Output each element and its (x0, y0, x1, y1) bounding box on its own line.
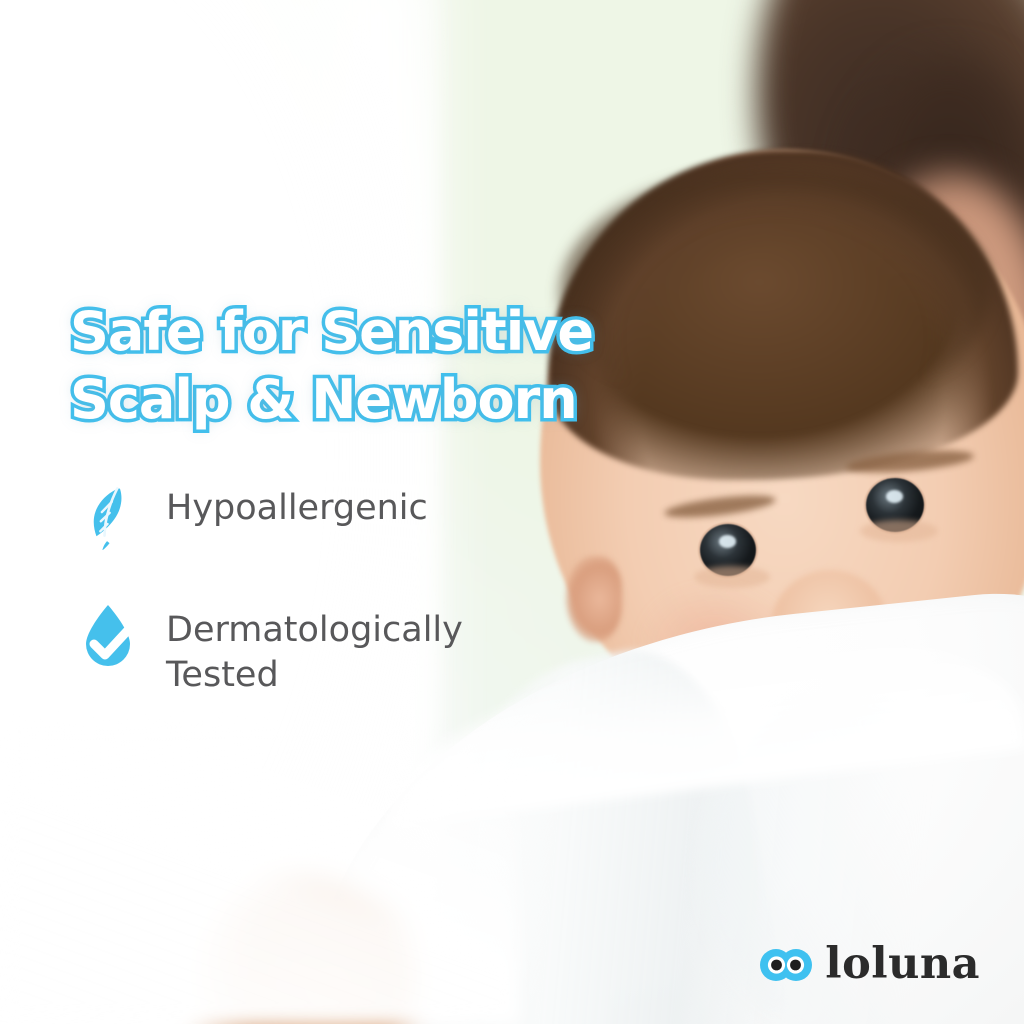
feature-label: Dermatologically Tested (166, 600, 526, 698)
feather-icon (72, 478, 144, 550)
feature-item-dermatologically-tested: Dermatologically Tested (72, 600, 526, 698)
feature-list: Hypoallergenic Dermatologically Tested (72, 478, 526, 698)
feature-item-hypoallergenic: Hypoallergenic (72, 478, 526, 550)
headline-line-2: Scalp & Newborn (70, 366, 593, 434)
baby-lower-lid-right (860, 520, 938, 542)
eye-glint-left (719, 535, 736, 547)
eye-glint-right (886, 490, 903, 503)
water-drop-check-icon (72, 600, 144, 672)
feature-label: Hypoallergenic (166, 478, 428, 531)
advertisement-canvas: Safe for Sensitive Scalp & Newborn Hypoa… (0, 0, 1024, 1024)
headline-line-1: Safe for Sensitive (70, 298, 593, 366)
brand-wordmark: loluna (825, 943, 980, 986)
baby-ear (566, 556, 622, 642)
baby-hairline (560, 168, 990, 418)
headline: Safe for Sensitive Scalp & Newborn (70, 298, 593, 434)
bottom-left-haze (0, 724, 520, 1024)
baby-lower-lid-left (694, 566, 770, 588)
brand-logo[interactable]: loluna (760, 943, 980, 986)
two-eyes-blob-icon (760, 945, 812, 985)
